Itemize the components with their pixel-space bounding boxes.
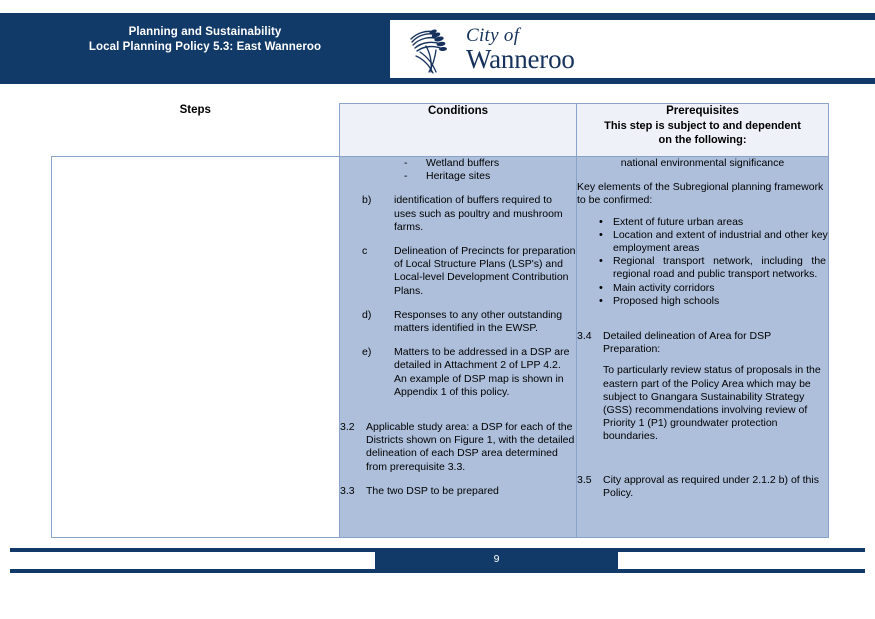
spacer (340, 234, 576, 245)
continued-text: national environmental significance (577, 157, 828, 170)
list-item: 3.3 The two DSP to be prepared (340, 485, 576, 498)
spacer (577, 308, 828, 330)
list-item: e) Matters to be addressed in a DSP are … (340, 346, 576, 372)
column-header-prerequisites-sub1: This step is subject to and dependent (577, 119, 828, 134)
kangaroo-paw-flower-icon (406, 26, 462, 74)
list-item-text: Extent of future urban areas (613, 216, 828, 229)
list-item-label (340, 373, 394, 399)
logo-container: City of Wanneroo (390, 20, 875, 78)
list-item: 3.2 Applicable study area: a DSP for eac… (340, 421, 576, 474)
cell-steps (52, 157, 340, 538)
list-item: • Extent of future urban areas (577, 216, 828, 229)
list-item-label: e) (340, 346, 394, 372)
column-header-prerequisites: Prerequisites This step is subject to an… (577, 104, 829, 157)
column-header-prerequisites-label: Prerequisites (666, 105, 739, 117)
list-item-label: 3.2 (340, 421, 366, 474)
column-header-prerequisites-sub2: on the following: (577, 133, 828, 148)
list-item-label: 3.5 (577, 474, 603, 500)
list-item: c Delineation of Precincts for preparati… (340, 245, 576, 298)
spacer (340, 335, 576, 346)
spacer (340, 474, 576, 485)
column-header-conditions: Conditions (340, 104, 577, 157)
logo-city-text: City of (466, 22, 575, 45)
list-item-label: c (340, 245, 394, 298)
list-item-text: Main activity corridors (613, 282, 828, 295)
list-item-text: Delineation of Precincts for preparation… (394, 245, 576, 298)
list-item: - Heritage sites (340, 170, 576, 183)
spacer (340, 399, 576, 421)
spacer (577, 466, 828, 474)
spacer (577, 444, 828, 466)
list-item-text: An example of DSP map is shown in Append… (394, 373, 576, 399)
column-header-steps: Steps (52, 104, 340, 157)
list-item: d) Responses to any other outstanding ma… (340, 309, 576, 335)
page-title-line1: Planning and Sustainability (40, 25, 370, 40)
spacer (340, 183, 576, 194)
list-item: 3.4 Detailed delineation of Area for DSP… (577, 330, 828, 356)
logo-wanneroo-text: Wanneroo (466, 46, 575, 73)
cell-conditions: - Wetland buffers - Heritage sites b) id… (340, 157, 577, 538)
logo: City of Wanneroo (400, 20, 615, 78)
bullet-icon: • (577, 295, 613, 308)
bullet-icon: • (577, 255, 613, 281)
spacer (577, 170, 828, 181)
bullet-icon: • (577, 216, 613, 229)
list-item-label: 3.4 (577, 330, 603, 356)
dash-bullet-icon: - (340, 170, 426, 183)
list-item: 3.5 City approval as required under 2.1.… (577, 474, 828, 500)
list-item-text: identification of buffers required to us… (394, 194, 576, 234)
list-item-text: Applicable study area: a DSP for each of… (366, 421, 576, 474)
list-item-text: Heritage sites (426, 170, 576, 183)
page-title: Planning and Sustainability Local Planni… (40, 25, 370, 55)
logo-wordmark: City of Wanneroo (466, 22, 575, 73)
spacer (577, 208, 828, 216)
prerequisites-intro: Key elements of the Subregional planning… (577, 181, 828, 207)
column-header-conditions-label: Conditions (428, 105, 488, 117)
policy-table: Steps Conditions Prerequisites This step… (51, 103, 829, 538)
list-item-text: Wetland buffers (426, 157, 576, 170)
footer-rule-bottom (10, 569, 865, 573)
list-item-text: Regional transport network, including th… (613, 255, 828, 281)
list-item-label: 3.3 (340, 485, 366, 498)
dash-bullet-icon: - (340, 157, 426, 170)
list-item-text: City approval as required under 2.1.2 b)… (603, 474, 828, 500)
list-item-text: Responses to any other outstanding matte… (394, 309, 576, 335)
cell-prerequisites: national environmental significance Key … (577, 157, 829, 538)
spacer (340, 298, 576, 309)
list-item-text: To particularly review status of proposa… (577, 364, 828, 443)
table-body-row: - Wetland buffers - Heritage sites b) id… (52, 157, 829, 538)
list-item: - Wetland buffers (340, 157, 576, 170)
page-number-badge: 9 (375, 549, 618, 570)
list-item-text: The two DSP to be prepared (366, 485, 576, 498)
list-item-text: Location and extent of industrial and ot… (613, 229, 828, 255)
list-item-text: Matters to be addressed in a DSP are det… (394, 346, 576, 372)
list-item-label: b) (340, 194, 394, 234)
list-item: • Main activity corridors (577, 282, 828, 295)
list-item-label: d) (340, 309, 394, 335)
page-title-line2: Local Planning Policy 5.3: East Wanneroo (40, 40, 370, 55)
list-item: b) identification of buffers required to… (340, 194, 576, 234)
list-item: • Regional transport network, including … (577, 255, 828, 281)
list-item-text: Proposed high schools (613, 295, 828, 308)
bullet-icon: • (577, 229, 613, 255)
table-header-row: Steps Conditions Prerequisites This step… (52, 104, 829, 157)
bullet-icon: • (577, 282, 613, 295)
list-item: • Proposed high schools (577, 295, 828, 308)
spacer (577, 356, 828, 364)
list-item: • Location and extent of industrial and … (577, 229, 828, 255)
list-item-text: Detailed delineation of Area for DSP Pre… (603, 330, 828, 356)
list-item: An example of DSP map is shown in Append… (340, 373, 576, 399)
